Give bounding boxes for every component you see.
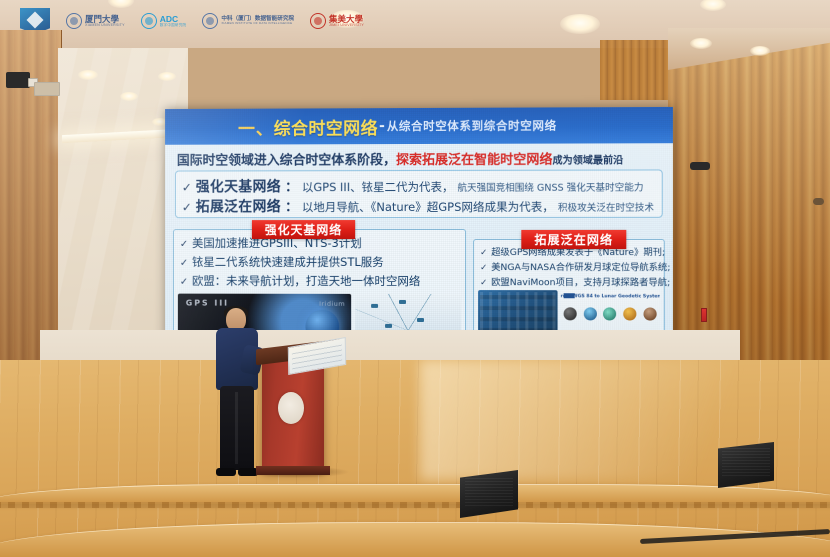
ceiling-downlight [108,0,134,8]
fire-alarm-panel [701,308,707,322]
summary-bullet-colon: ： [285,196,298,215]
slide-title-dash: - [379,118,385,134]
gravity-map-icon [623,307,636,320]
presenter-shoe [216,468,236,476]
satellite-node-icon [371,304,378,308]
ceiling-downlight [78,70,98,80]
panel-left-bullet: ✓ 欧盟：未来导航计划，打造天地一体时空网络 [180,273,421,289]
wall-speaker-fixture [6,72,30,88]
summary-bullet-text: 以地月导航、《Nature》超GPS网络成果为代表， [302,199,554,215]
university-seal-icon [66,13,82,29]
check-icon: ✓ [480,248,487,258]
geoid-icon [603,307,616,320]
panel-right-bullet: ✓ 欧盟NaviMoon项目，支持月球探路者导航; [480,274,670,288]
lead-highlight: 探索拓展泛在智能时空网络 [396,153,553,168]
stage-step-edge [0,502,830,508]
sponsor-logo-bar: 厦門大學XIAMEN UNIVERSITY ADC数字中国研究院 中科（厦门）数… [20,8,364,34]
summary-bullet-row: ✓ 强化天基网络 ： 以GPS III、铱星二代为代表， 航天强国竞相围绕 GN… [182,176,644,197]
summary-bullet-row: ✓ 拓展泛在网络 ： 以地月导航、《Nature》超GPS网络成果为代表， 积极… [182,196,654,217]
presenter [212,308,262,476]
stage-monitor-speaker-right [718,442,774,488]
adc-mark-icon [141,13,157,29]
wall-vent [34,82,60,96]
ribbon-header-right: 拓展泛在网络 [521,230,626,249]
podium-base [256,466,330,475]
screenshot-scene: 厦門大學XIAMEN UNIVERSITY ADC数字中国研究院 中科（厦门）数… [0,0,830,557]
ceiling-downlight [690,38,712,49]
gps-photo-caption: GPS III [186,299,229,308]
slide-section-number: 一、 [238,114,274,139]
summary-bullet-text: 以GPS III、铱星二代为代表， [302,179,454,195]
panel-left-bullet-text: 欧盟：未来导航计划，打造天地一体时空网络 [192,273,420,289]
celestial-body-row [563,307,656,320]
wall-speaker-fixture [690,162,710,170]
presenter-legs [220,386,254,470]
slide-summary-box: ✓ 强化天基网络 ： 以GPS III、铱星二代为代表， 航天强国竞相围绕 GN… [175,169,663,218]
xiamen-university-logo: 厦門大學XIAMEN UNIVERSITY [66,10,125,32]
slide-title-subtitle: 从综合时空体系到综合时空网络 [387,117,557,134]
satellite-node-icon [417,318,424,322]
presenter-shoe [238,468,258,476]
summary-bullet-label: 强化天基网络 [196,176,281,196]
iridium-photo-caption: Iridium [319,300,345,308]
ribbon-header-left: 强化天基网络 [252,220,355,239]
check-icon: ✓ [480,263,487,273]
wall-lamp-fixture [813,198,824,205]
logo-subtext: XIAMEN UNIVERSITY [85,24,125,28]
lead-text-before: 国际时空领域进入综合时空体系阶段， [177,153,396,169]
university-seal-icon [310,13,326,29]
ceiling-downlight [700,0,726,11]
summary-bullet-tail: 航天强国竞相围绕 GNSS 强化天基时空能力 [458,180,644,194]
moon-icon [563,307,576,320]
ceiling-downlight [120,92,138,101]
panel-left-bullet: ✓ 铱星二代系统快速建成并提供STL服务 [180,254,384,270]
panel-right-bullet-text: 美NGA与NASA合作研发月球定位导航系统; [491,259,670,273]
logo-subtext: JIMEI UNIVERSITY [329,24,364,28]
check-icon: ✓ [180,239,188,250]
satellite-node-icon [399,300,406,304]
panel-right-bullet: ✓ 美NGA与NASA合作研发月球定位导航系统; [480,259,670,273]
check-icon: ✓ [480,278,487,288]
logo-subtext: XIAMEN INSTITUTE OF DATA INTELLIGENCE [221,22,294,25]
podium-circular-emblem [278,392,304,424]
check-icon: ✓ [180,277,188,288]
earth-icon [583,307,596,320]
jimei-university-logo: 集美大學JIMEI UNIVERSITY [310,10,364,32]
institute-seal-icon [202,13,218,29]
slide-title-bar: 一、 综合时空网络 - 从综合时空体系到综合时空网络 [165,107,673,145]
lunar-diagram-caption: From WGS 84 to Lunar Geodetic System [560,294,659,300]
summary-bullet-colon: ： [285,176,298,195]
summary-bullet-label: 拓展泛在网络 [196,196,281,216]
logo-subtext: 数字中国研究院 [160,24,187,28]
slide-title-main: 综合时空网络 [274,114,378,139]
panel-right-bullet-text: 欧盟NaviMoon项目，支持月球探路者导航; [491,274,670,288]
check-icon: ✓ [180,258,188,269]
ceiling-downlight [158,72,176,81]
panel-left-bullet-text: 铱星二代系统快速建成并提供STL服务 [192,254,384,270]
satellite-node-icon [385,324,392,328]
summary-bullet-tail: 积极攻关泛在时空技术 [558,200,654,214]
check-icon: ✓ [182,200,192,214]
ceiling-downlight [750,46,770,56]
slide-lead-sentence: 国际时空领域进入综合时空体系阶段，探索拓展泛在智能时空网络成为领域最前沿 [177,148,665,168]
lead-text-after: 成为领域最前沿 [553,155,624,166]
adc-logo: ADC数字中国研究院 [141,10,187,32]
ceiling-downlight [560,14,600,34]
lunar-surface-icon [643,307,656,320]
cas-institute-logo: 中科（厦门）数据智能研究院XIAMEN INSTITUTE OF DATA IN… [202,10,294,32]
stage-step-upper [0,484,830,504]
check-icon: ✓ [182,180,192,194]
